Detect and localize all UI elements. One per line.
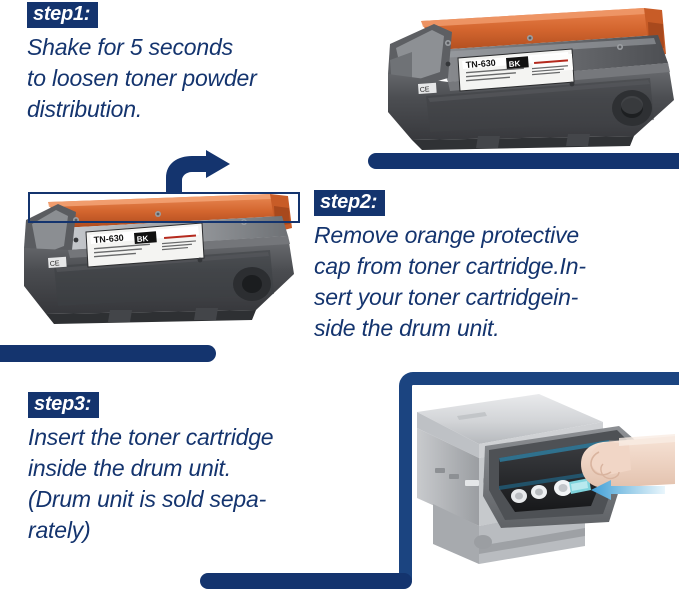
- step3-body: Insert the toner cartridge inside the dr…: [28, 422, 378, 546]
- cartridge-colorcode-text: BK: [508, 59, 520, 69]
- step1-cartridge-image: TN-630 BK CE: [382, 0, 679, 152]
- divider-bar-top-right: [368, 153, 679, 169]
- cartridge-art-step1: TN-630 BK CE: [388, 8, 674, 150]
- step2-badge: step2:: [314, 190, 385, 216]
- divider-bar-mid-left: [0, 345, 216, 362]
- svg-text:CE: CE: [420, 86, 431, 94]
- step1-badge: step1:: [27, 2, 98, 28]
- step2-text-block: step2: Remove orange protective cap from…: [314, 190, 674, 344]
- printer-art: [417, 394, 675, 564]
- cartridge-ce-mark: CE: [418, 83, 437, 94]
- divider-bar-bottom: [200, 573, 412, 589]
- svg-text:BK: BK: [136, 234, 148, 244]
- step1-body: Shake for 5 seconds to loosen toner powd…: [27, 32, 357, 125]
- step3-frame-top: [423, 372, 679, 385]
- step2-body: Remove orange protective cap from toner …: [314, 220, 674, 344]
- step3-frame-left: [399, 396, 412, 580]
- svg-text:CE: CE: [50, 260, 61, 268]
- step3-badge: step3:: [28, 392, 99, 418]
- step3-printer-image: [413, 386, 679, 576]
- step3-text-block: step3: Insert the toner cartridge inside…: [28, 392, 378, 546]
- step1-text-block: step1: Shake for 5 seconds to loosen ton…: [27, 2, 357, 125]
- cartridge-ce-mark-step2: CE: [48, 257, 67, 268]
- orange-cap-highlight-box: [28, 192, 300, 223]
